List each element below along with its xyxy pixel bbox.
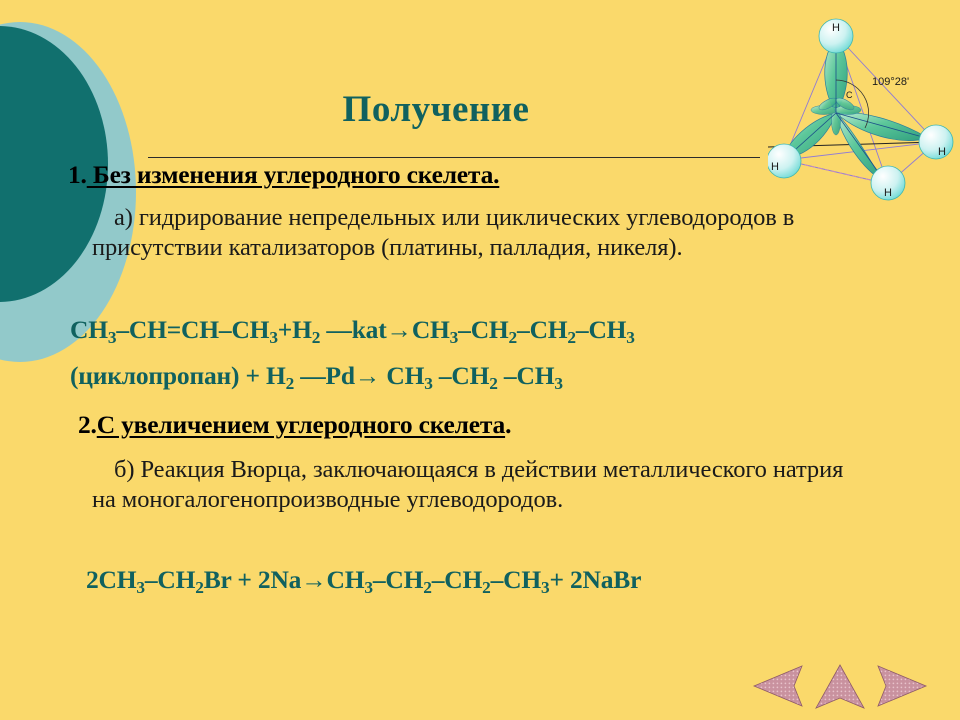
- subscript: 2: [286, 374, 294, 393]
- svg-text:H: H: [938, 146, 946, 158]
- heading-2-number: 2.: [78, 410, 97, 439]
- subscript: 2: [482, 578, 490, 597]
- paragraph-b: б) Реакция Вюрца, заключающаяся в действ…: [92, 455, 852, 515]
- svg-text:H: H: [884, 187, 892, 199]
- slide-canvas: Получение 1. Без изменения углеродного с…: [0, 0, 960, 720]
- subscript: 3: [626, 328, 634, 347]
- subscript: 2: [195, 578, 203, 597]
- subscript: 2: [509, 328, 517, 347]
- heading-1-text: Без изменения углеродного скелета.: [87, 160, 500, 189]
- heading-section-2: 2.С увеличением углеродного скелета.: [78, 410, 511, 440]
- subscript: 3: [554, 374, 562, 393]
- subscript: 2: [567, 328, 575, 347]
- paragraph-a: а) гидрирование непредельных или цикличе…: [92, 203, 832, 263]
- bond-angle-label: 109°28': [872, 76, 909, 88]
- heading-2-tail: .: [505, 410, 511, 439]
- slide-content: Получение 1. Без изменения углеродного с…: [0, 0, 960, 720]
- equation-3: 2CH3–CH2Br + 2Na→CH3–CH2–CH2–CH3+ 2NaBr: [86, 565, 641, 598]
- equation-2: (циклопропан) + H2 —Pd→ CH3 –CH2 –CH3: [70, 361, 563, 394]
- subscript: 3: [424, 374, 432, 393]
- subscript: 3: [450, 328, 458, 347]
- svg-text:H: H: [832, 22, 840, 34]
- forward-arrow-icon: [878, 666, 926, 706]
- back-arrow-icon: [754, 666, 802, 706]
- subscript: 3: [108, 328, 116, 347]
- subscript: 3: [269, 328, 277, 347]
- up-arrow-icon: [816, 665, 864, 708]
- subscript: 2: [312, 328, 320, 347]
- subscript: 3: [136, 578, 144, 597]
- subscript: 2: [489, 374, 497, 393]
- title-divider-rule: [148, 157, 760, 158]
- page-title: Получение: [0, 88, 872, 131]
- heading-1-number: 1.: [68, 160, 87, 189]
- subscript: 2: [423, 578, 431, 597]
- heading-section-1: 1. Без изменения углеродного скелета.: [68, 160, 499, 190]
- subscript: 3: [364, 578, 372, 597]
- navigation-arrows[interactable]: [752, 662, 928, 712]
- subscript: 3: [541, 578, 549, 597]
- heading-2-text: С увеличением углеродного скелета: [97, 410, 505, 439]
- sp3-orbital-diagram: C H H H H: [768, 18, 960, 212]
- svg-text:C: C: [846, 90, 853, 100]
- equation-1: CH3–CH=CH–CH3+H2 —kat→CH3–CH2–CH2–CH3: [70, 315, 635, 348]
- svg-text:H: H: [771, 161, 779, 173]
